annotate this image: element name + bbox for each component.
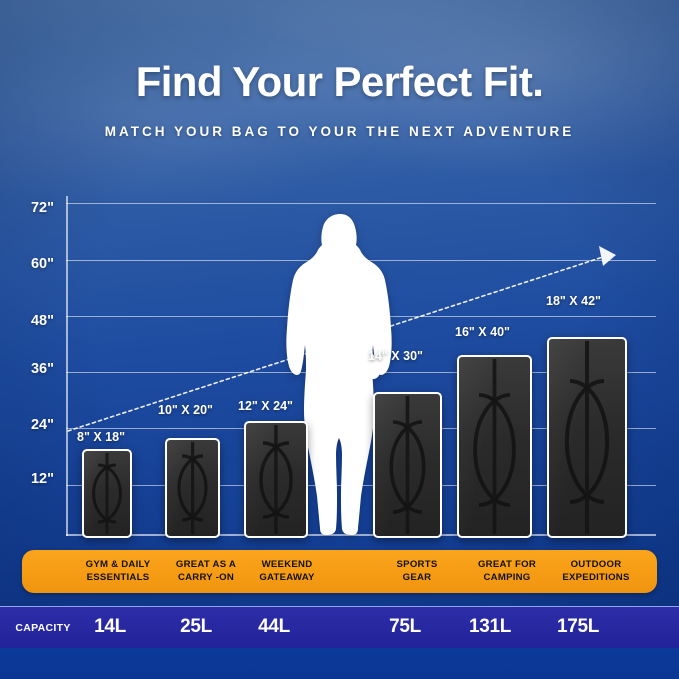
bag-1-size-label: 8" X 18" bbox=[77, 430, 125, 444]
bag-6[interactable] bbox=[547, 337, 627, 538]
bag-4-size-label: 14" X 30" bbox=[368, 349, 423, 363]
bag-1[interactable] bbox=[82, 449, 132, 538]
y-tick-label-72: 72" bbox=[8, 200, 54, 216]
gridline-72 bbox=[66, 203, 656, 204]
bag-3-size-label: 12" X 24" bbox=[238, 399, 293, 413]
y-tick-label-48: 48" bbox=[8, 313, 54, 329]
bag-5[interactable] bbox=[457, 355, 532, 538]
bag-2-size-label: 10" X 20" bbox=[158, 403, 213, 417]
infographic-canvas: Find Your Perfect Fit. MATCH YOUR BAG TO… bbox=[0, 0, 679, 679]
use-case-3[interactable]: WEEKEND GATEAWAY bbox=[229, 559, 345, 584]
use-case-3-line1: WEEKEND bbox=[229, 559, 345, 572]
use-case-3-line2: GATEAWAY bbox=[229, 572, 345, 585]
y-tick-label-60: 60" bbox=[8, 256, 54, 272]
capacity-value-1: 14L bbox=[60, 616, 160, 638]
y-tick-label-24: 24" bbox=[8, 417, 54, 433]
use-case-6[interactable]: OUTDOOR EXPEDITIONS bbox=[538, 559, 654, 584]
y-axis-line bbox=[66, 196, 68, 536]
use-case-6-line2: EXPEDITIONS bbox=[538, 572, 654, 585]
capacity-value-3: 44L bbox=[224, 616, 324, 638]
use-case-6-line1: OUTDOOR bbox=[538, 559, 654, 572]
bag-3[interactable] bbox=[244, 421, 308, 538]
y-tick-label-12: 12" bbox=[8, 471, 54, 487]
capacity-value-5: 131L bbox=[440, 616, 540, 638]
bag-2[interactable] bbox=[165, 438, 220, 538]
y-tick-label-36: 36" bbox=[8, 361, 54, 377]
bottom-strip bbox=[0, 648, 679, 679]
capacity-value-6: 175L bbox=[528, 616, 628, 638]
bag-4[interactable] bbox=[373, 392, 442, 538]
bag-5-size-label: 16" X 40" bbox=[455, 325, 510, 339]
bag-6-size-label: 18" X 42" bbox=[546, 294, 601, 308]
capacity-bar: CAPACITY 14L 25L 44L 75L 131L 175L bbox=[0, 606, 679, 650]
use-case-bar: GYM & DAILY ESSENTIALS GREAT AS A CARRY … bbox=[22, 550, 657, 593]
